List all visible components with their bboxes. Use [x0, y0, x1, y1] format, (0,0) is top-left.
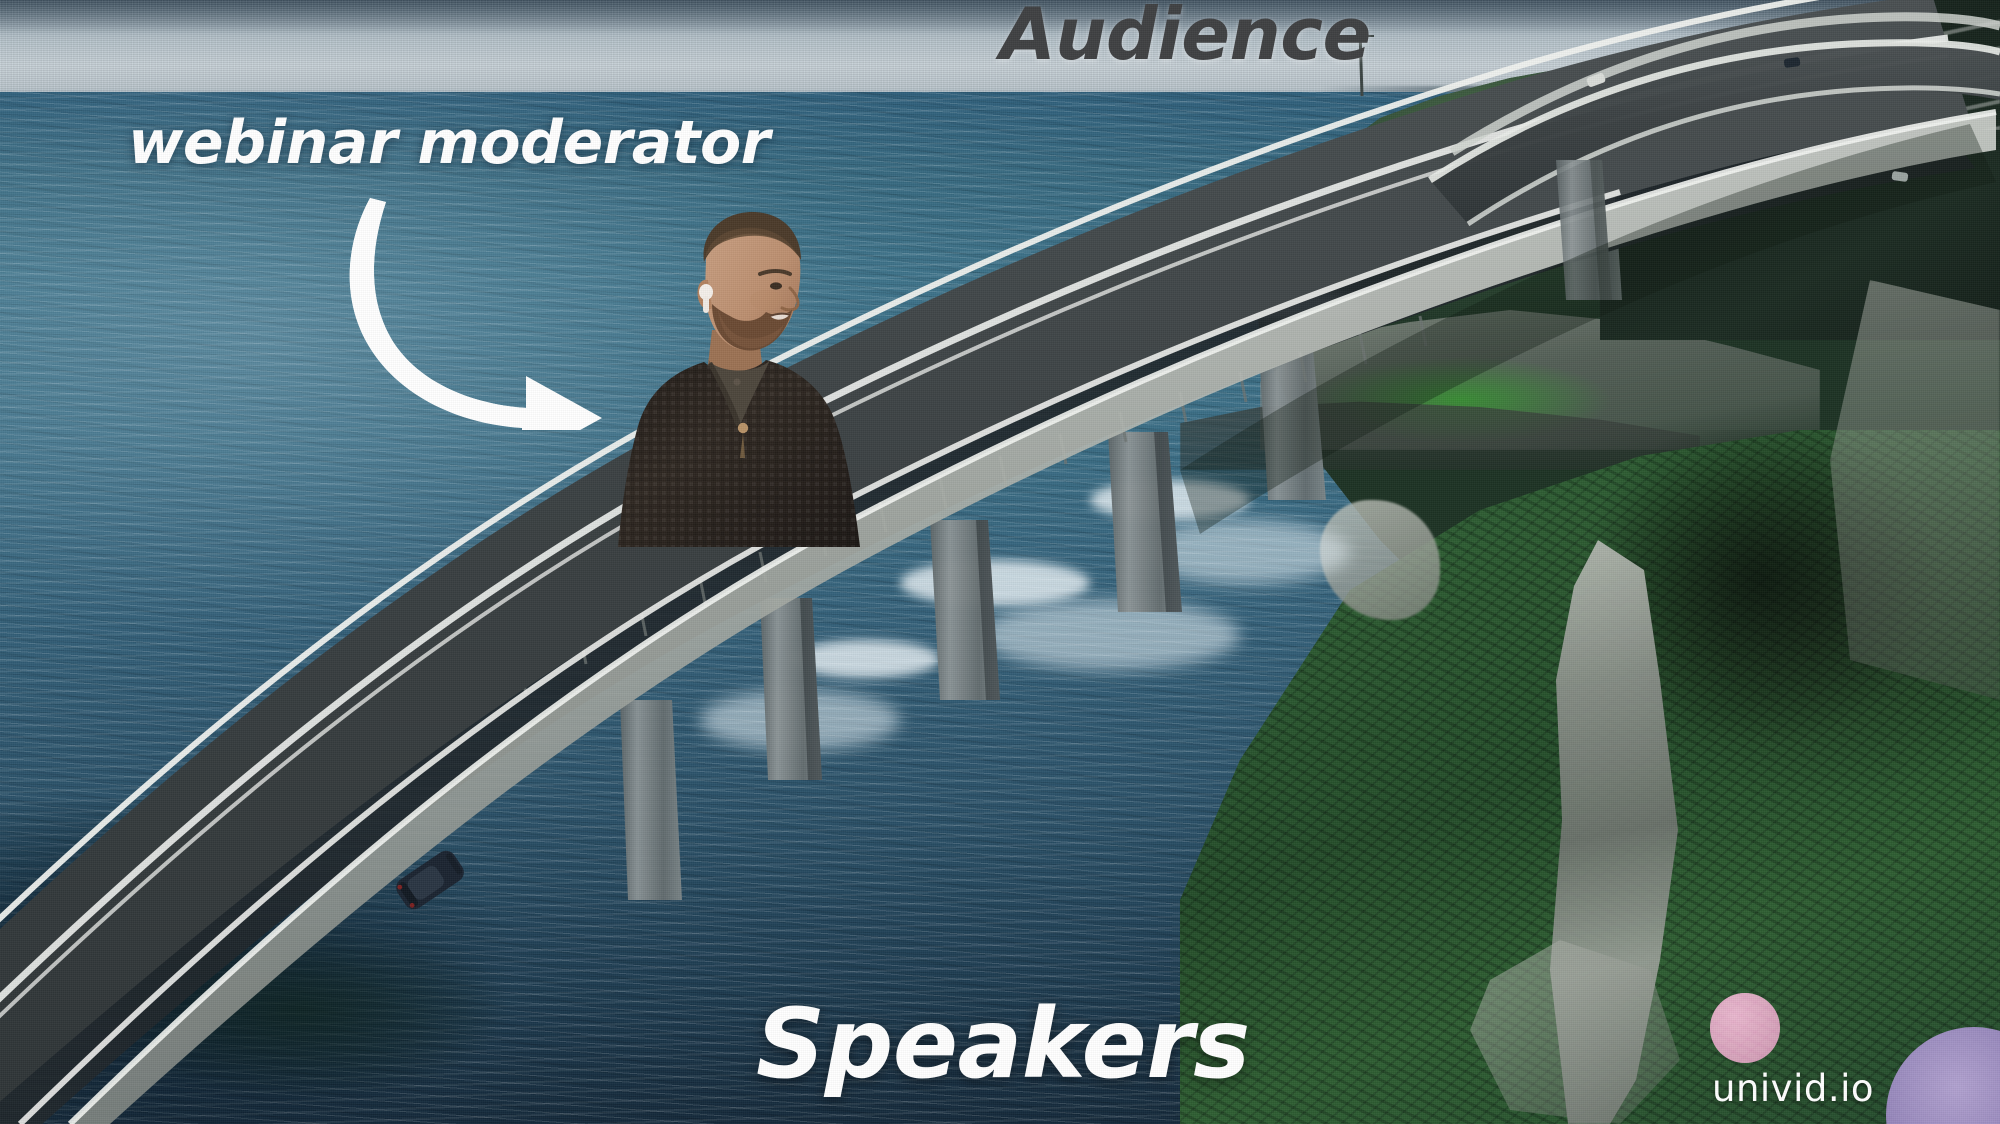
univid-logo[interactable]: univid.io	[1690, 975, 2000, 1124]
logo-pink-circle-tint	[1710, 993, 1780, 1063]
hero-image: Audience webinar moderator Speakers univ…	[0, 0, 2000, 1124]
curved-arrow-icon	[330, 180, 660, 430]
eye	[770, 282, 782, 289]
logo-purple-circle	[1886, 1027, 2000, 1124]
annotation-speakers: Speakers	[756, 988, 1250, 1100]
annotation-audience: Audience	[1000, 0, 1371, 76]
annotation-webinar-moderator: webinar moderator	[128, 108, 770, 178]
zipper-pull	[738, 423, 748, 433]
logo-wordmark: univid.io	[1712, 1067, 1874, 1110]
